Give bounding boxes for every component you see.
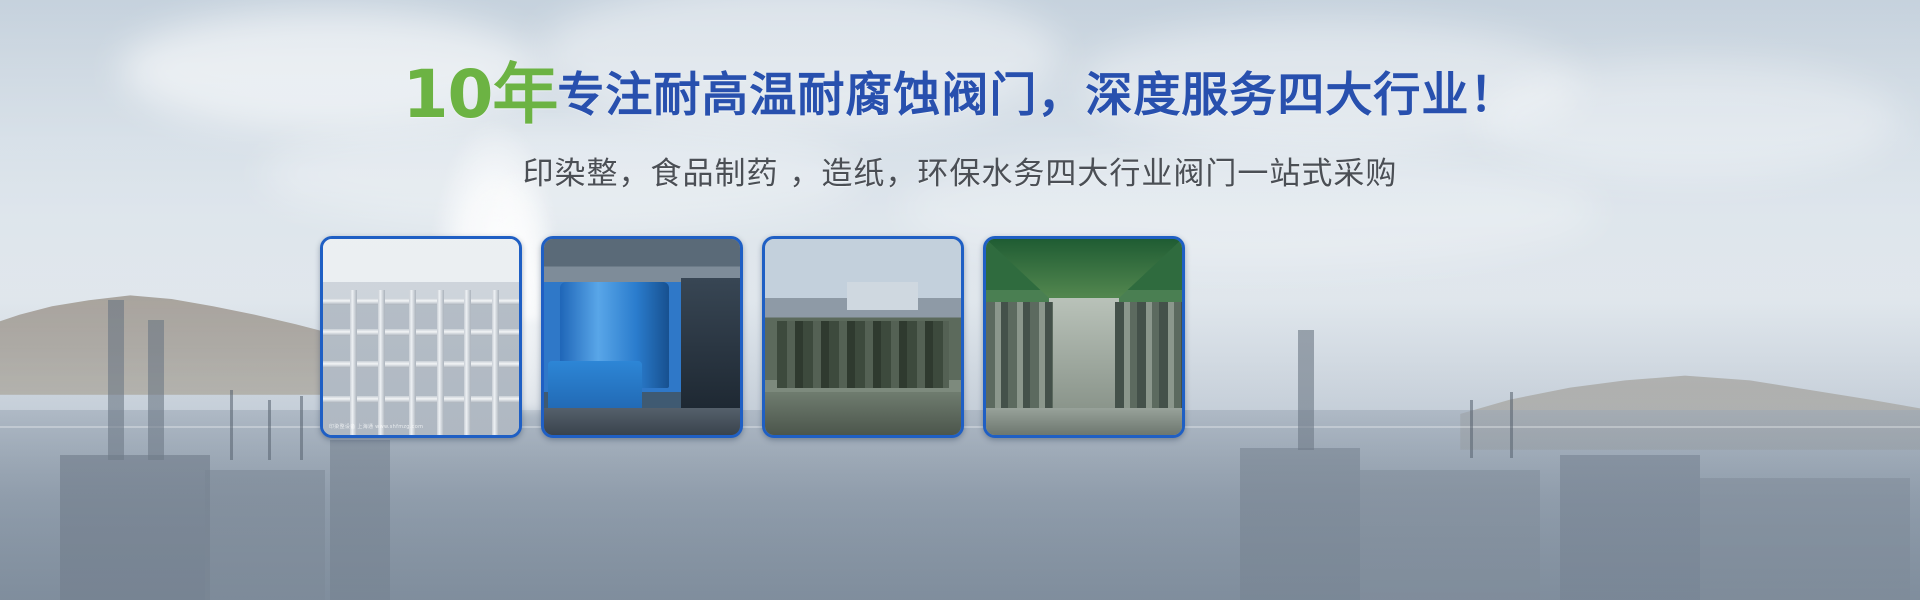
pipework-detail: [323, 239, 519, 435]
promo-banner: 10年专注耐高温耐腐蚀阀门，深度服务四大行业！ 印染整，食品制药 ，造纸，环保水…: [0, 0, 1920, 600]
yard-building: [847, 282, 918, 309]
industry-card-food-pharma[interactable]: [541, 236, 743, 438]
yard-ground: [765, 392, 961, 435]
machine-shadow: [681, 278, 740, 415]
industry-card-environmental-water[interactable]: [983, 236, 1185, 438]
card-photo: [323, 239, 519, 435]
card-photo: [765, 239, 961, 435]
headline-years: 10年: [403, 56, 558, 133]
banner-content: 10年专注耐高温耐腐蚀阀门，深度服务四大行业！ 印染整，食品制药 ，造纸，环保水…: [0, 0, 1920, 600]
banner-subheadline: 印染整，食品制药 ，造纸，环保水务四大行业阀门一站式采购: [0, 148, 1920, 193]
machine-row-left: [986, 302, 1053, 412]
industry-card-printing-dyeing[interactable]: 印染整设备 上海通 www.shfmzg.com: [320, 236, 522, 438]
industry-card-papermaking[interactable]: [762, 236, 964, 438]
card-watermark: 印染整设备 上海通 www.shfmzg.com: [329, 423, 423, 430]
machine-row-right: [1115, 302, 1182, 412]
card-photo: [544, 239, 740, 435]
card-photo: [986, 239, 1182, 435]
hall-floor: [986, 408, 1182, 435]
industry-photo-cards: 印染整设备 上海通 www.shfmzg.com: [320, 236, 1600, 436]
yard-machinery: [777, 321, 949, 388]
headline-main-text: 专注耐高温耐腐蚀阀门，深度服务四大行业！: [557, 68, 1517, 123]
banner-headline: 10年专注耐高温耐腐蚀阀门，深度服务四大行业！: [0, 62, 1920, 128]
hall-roof: [986, 239, 1182, 298]
factory-floor: [544, 408, 740, 435]
